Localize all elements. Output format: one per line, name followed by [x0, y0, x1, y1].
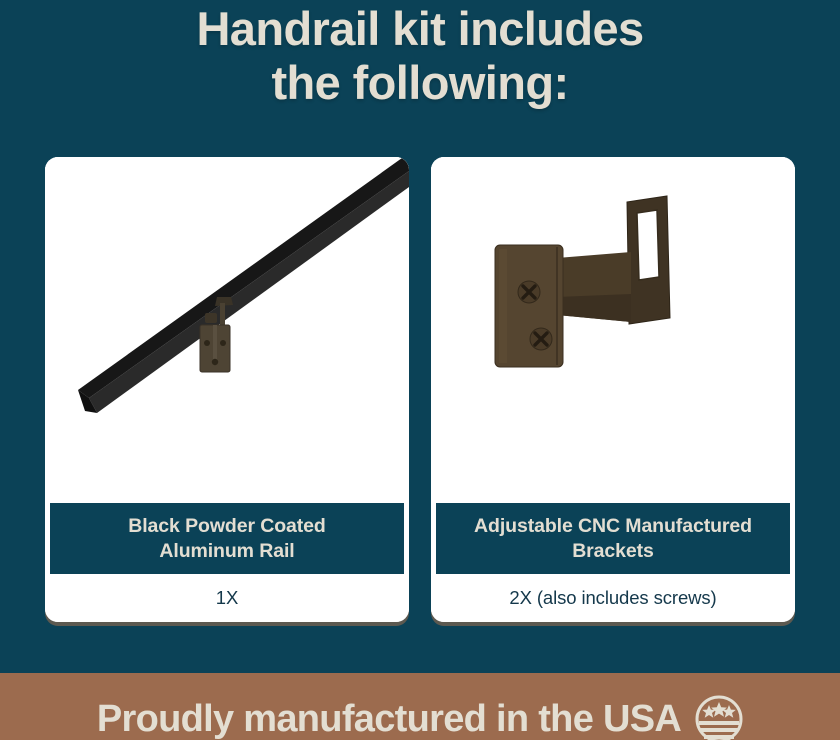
bracket-illustration — [431, 157, 795, 503]
bracket-card-label: Adjustable CNC Manufactured Brackets — [436, 503, 790, 574]
usa-banner: Proudly manufactured in the USA — [0, 673, 840, 740]
usa-banner-text: Proudly manufactured in the USA — [97, 696, 681, 740]
page-title: Handrail kit includes the following: — [0, 2, 840, 110]
phillips-screw-top — [518, 281, 540, 303]
header: Handrail kit includes the following: — [0, 0, 840, 110]
rail-illustration — [45, 157, 409, 503]
rail-card-quantity: 1X — [45, 574, 409, 622]
rail-image — [45, 157, 409, 503]
product-card-bracket[interactable]: Adjustable CNC Manufactured Brackets 2X … — [431, 157, 795, 622]
usa-banner-content: Proudly manufactured in the USA — [97, 695, 743, 740]
phillips-screw-bottom — [530, 328, 552, 350]
bracket-card-quantity: 2X (also includes screws) — [431, 574, 795, 622]
rail-card-label: Black Powder Coated Aluminum Rail — [50, 503, 404, 574]
usa-badge-icon — [695, 695, 743, 740]
product-card-rail[interactable]: Black Powder Coated Aluminum Rail 1X — [45, 157, 409, 622]
product-card-list: Black Powder Coated Aluminum Rail 1X — [0, 157, 840, 627]
bracket-image — [431, 157, 795, 503]
